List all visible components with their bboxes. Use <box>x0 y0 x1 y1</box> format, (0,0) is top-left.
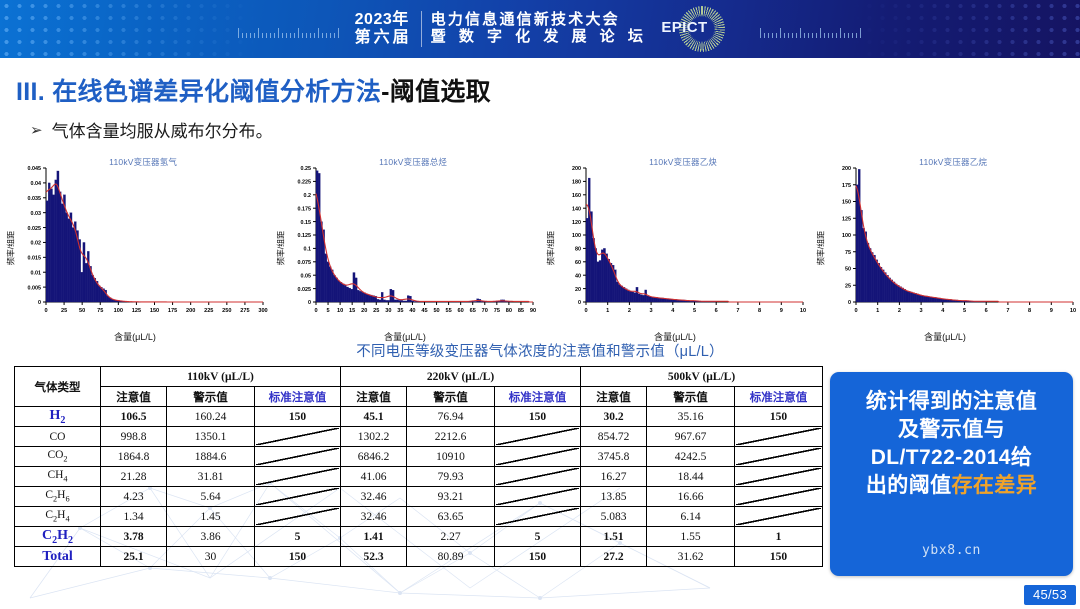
svg-text:75: 75 <box>97 308 103 314</box>
cell-value: 27.2 <box>581 547 647 567</box>
svg-text:7: 7 <box>736 308 739 314</box>
svg-text:0.005: 0.005 <box>28 285 42 291</box>
svg-text:10: 10 <box>800 308 806 314</box>
table-row: CO998.81350.11302.22212.6854.72967.67 <box>15 427 823 447</box>
svg-text:200: 200 <box>842 166 851 172</box>
cell-not-applicable <box>495 427 581 447</box>
cell-value: 6846.2 <box>341 447 407 467</box>
cell-value: 150 <box>735 547 823 567</box>
cell-value: 4242.5 <box>647 447 735 467</box>
cell-value: 31.62 <box>647 547 735 567</box>
table-body: H2106.5160.2415045.176.9415030.235.16150… <box>15 407 823 567</box>
callout-line-3: DL/T722-2014给 <box>871 444 1033 472</box>
cell-value: 1 <box>735 527 823 547</box>
page-title: III. 在线色谱差异化阈值分析方法-阈值选取 <box>16 72 1080 108</box>
chart-ethane-ylabel: 频率/组距 <box>816 230 827 264</box>
svg-text:10: 10 <box>337 308 343 314</box>
cell-value: 1.34 <box>101 507 167 527</box>
svg-text:90: 90 <box>530 308 536 314</box>
svg-text:225: 225 <box>204 308 213 314</box>
cell-value: 5 <box>255 527 341 547</box>
site-watermark: ybx8.cn <box>830 543 1073 558</box>
cell-value: 31.81 <box>167 467 255 487</box>
cell-value: 150 <box>255 547 341 567</box>
cell-value: 63.65 <box>407 507 495 527</box>
chart-ethane-canvas: 0255075100125150175200012345678910 <box>810 150 1080 345</box>
chart-row: 00.0050.010.0150.020.0250.030.0350.040.0… <box>0 150 1080 345</box>
cell-gas-name: CO <box>15 427 101 447</box>
svg-text:6: 6 <box>715 308 718 314</box>
gas-threshold-table: 气体类型 110kV (μL/L) 220kV (μL/L) 500kV (μL… <box>14 366 823 567</box>
chart-acetylene-ylabel: 频率/组距 <box>546 230 557 264</box>
chart-hydrogen-ylabel: 频率/组距 <box>6 230 17 264</box>
page-title-main: III. 在线色谱差异化阈值分析方法 <box>16 78 381 106</box>
svg-text:3: 3 <box>920 308 923 314</box>
svg-text:0.225: 0.225 <box>298 180 312 186</box>
cell-not-applicable <box>735 447 823 467</box>
cell-value: 35.16 <box>647 407 735 427</box>
svg-text:100: 100 <box>572 233 581 239</box>
svg-text:4: 4 <box>671 308 675 314</box>
page-number-badge: 45/53 <box>1024 585 1076 605</box>
svg-text:0.1: 0.1 <box>304 247 312 253</box>
chart-acetylene-title: 110kV变压器乙炔 <box>649 156 717 168</box>
banner-title-line1: 电力信息通信新技术大会 <box>431 12 648 29</box>
svg-text:100: 100 <box>114 308 123 314</box>
cell-value: 3.78 <box>101 527 167 547</box>
svg-text:0.01: 0.01 <box>31 270 42 276</box>
svg-text:0.125: 0.125 <box>298 233 312 239</box>
svg-text:0: 0 <box>854 308 857 314</box>
svg-text:0: 0 <box>314 308 317 314</box>
svg-text:85: 85 <box>518 308 524 314</box>
bullet-item: ➢ 气体含量均服从威布尔分布。 <box>30 117 1080 142</box>
cell-value: 998.8 <box>101 427 167 447</box>
table-row: C2H41.341.4532.4663.655.0836.14 <box>15 507 823 527</box>
gas-threshold-table-wrapper: 气体类型 110kV (μL/L) 220kV (μL/L) 500kV (μL… <box>14 366 822 567</box>
cell-value: 16.27 <box>581 467 647 487</box>
svg-text:275: 275 <box>240 308 249 314</box>
cell-value: 150 <box>495 407 581 427</box>
chart-hydrogen-canvas: 00.0050.010.0150.020.0250.030.0350.040.0… <box>0 150 270 345</box>
banner-edition: 第六届 <box>355 29 412 47</box>
svg-text:0.075: 0.075 <box>298 260 312 266</box>
svg-text:0: 0 <box>578 300 581 306</box>
cell-value: 32.46 <box>341 487 407 507</box>
cell-value: 18.44 <box>647 467 735 487</box>
cell-not-applicable <box>255 507 341 527</box>
svg-text:0: 0 <box>308 300 311 306</box>
svg-text:120: 120 <box>572 220 581 226</box>
svg-text:200: 200 <box>572 166 581 172</box>
callout-line-4: 出的阈值存在差异 <box>866 472 1037 500</box>
svg-text:180: 180 <box>572 180 581 186</box>
svg-text:2: 2 <box>628 308 631 314</box>
svg-text:5: 5 <box>963 308 966 314</box>
svg-text:8: 8 <box>1028 308 1031 314</box>
cell-value: 13.85 <box>581 487 647 507</box>
header-warning-500: 警示值 <box>647 387 735 407</box>
cell-value: 2.27 <box>407 527 495 547</box>
callout-line-2: 及警示值与 <box>898 416 1005 444</box>
cell-value: 1.55 <box>647 527 735 547</box>
header-attention-220: 注意值 <box>341 387 407 407</box>
cell-value: 3.86 <box>167 527 255 547</box>
svg-text:75: 75 <box>494 308 500 314</box>
cell-not-applicable <box>495 467 581 487</box>
cell-value: 93.21 <box>407 487 495 507</box>
svg-text:0: 0 <box>38 300 41 306</box>
svg-text:7: 7 <box>1006 308 1009 314</box>
svg-text:5: 5 <box>693 308 696 314</box>
svg-text:150: 150 <box>150 308 159 314</box>
header-standard-500: 标准注意值 <box>735 387 823 407</box>
svg-text:0: 0 <box>848 300 851 306</box>
table-row: C2H64.235.6432.4693.2113.8516.66 <box>15 487 823 507</box>
svg-text:250: 250 <box>222 308 231 314</box>
svg-text:0.05: 0.05 <box>301 273 312 279</box>
svg-text:0.025: 0.025 <box>298 287 312 293</box>
cell-value: 21.28 <box>101 467 167 487</box>
header-standard-220: 标准注意值 <box>495 387 581 407</box>
svg-text:175: 175 <box>842 183 851 189</box>
svg-text:1: 1 <box>606 308 609 314</box>
cell-value: 10910 <box>407 447 495 467</box>
header-standard-110: 标准注意值 <box>255 387 341 407</box>
svg-text:200: 200 <box>186 308 195 314</box>
svg-text:0: 0 <box>44 308 47 314</box>
cell-value: 5 <box>495 527 581 547</box>
svg-text:140: 140 <box>572 206 581 212</box>
banner-edition-block: 2023年 第六届 <box>355 11 421 47</box>
cell-not-applicable <box>495 487 581 507</box>
svg-text:300: 300 <box>258 308 267 314</box>
svg-text:160: 160 <box>572 193 581 199</box>
svg-text:150: 150 <box>842 200 851 206</box>
svg-text:65: 65 <box>470 308 476 314</box>
svg-text:0: 0 <box>584 308 587 314</box>
svg-text:60: 60 <box>458 308 464 314</box>
svg-text:40: 40 <box>575 273 581 279</box>
cell-not-applicable <box>255 427 341 447</box>
cell-value: 52.3 <box>341 547 407 567</box>
cell-value: 16.66 <box>647 487 735 507</box>
chart-total-hydrocarbon-title: 110kV变压器总烃 <box>379 156 447 168</box>
svg-text:25: 25 <box>373 308 379 314</box>
svg-text:80: 80 <box>506 308 512 314</box>
table-head: 气体类型 110kV (μL/L) 220kV (μL/L) 500kV (μL… <box>15 367 823 407</box>
cell-value: 150 <box>495 547 581 567</box>
table-row: CH421.2831.8141.0679.9316.2718.44 <box>15 467 823 487</box>
header-warning-110: 警示值 <box>167 387 255 407</box>
svg-text:0.035: 0.035 <box>28 196 42 202</box>
page-title-suffix: -阈值选取 <box>381 78 491 106</box>
svg-text:125: 125 <box>842 216 851 222</box>
chart-ethane: 0255075100125150175200012345678910 110kV… <box>810 150 1080 345</box>
svg-text:10: 10 <box>1070 308 1076 314</box>
chart-acetylene-canvas: 020406080100120140160180200012345678910 <box>540 150 810 345</box>
cell-gas-name: H2 <box>15 407 101 427</box>
svg-text:5: 5 <box>326 308 329 314</box>
cell-not-applicable <box>495 447 581 467</box>
chart-total-hydrocarbon-canvas: 00.0250.050.0750.10.1250.150.1750.20.225… <box>270 150 540 345</box>
cell-value: 1884.6 <box>167 447 255 467</box>
svg-text:75: 75 <box>845 250 851 256</box>
header-warning-220: 警示值 <box>407 387 495 407</box>
callout-line-1: 统计得到的注意值 <box>866 388 1037 416</box>
header-attention-110: 注意值 <box>101 387 167 407</box>
svg-text:15: 15 <box>349 308 355 314</box>
banner-year: 2023年 <box>355 11 412 29</box>
table-sub-header-row: 注意值 警示值 标准注意值 注意值 警示值 标准注意值 注意值 警示值 标准注意… <box>15 387 823 407</box>
cell-value: 30.2 <box>581 407 647 427</box>
chart-hydrogen: 00.0050.010.0150.020.0250.030.0350.040.0… <box>0 150 270 345</box>
svg-text:4: 4 <box>941 308 945 314</box>
cell-value: 1350.1 <box>167 427 255 447</box>
cell-not-applicable <box>495 507 581 527</box>
svg-text:0.03: 0.03 <box>31 211 42 217</box>
cell-value: 6.14 <box>647 507 735 527</box>
cell-gas-name: CO2 <box>15 447 101 467</box>
banner-title-block: 电力信息通信新技术大会 暨 数 字 化 发 展 论 坛 <box>431 12 648 46</box>
cell-value: 150 <box>255 407 341 427</box>
svg-text:50: 50 <box>79 308 85 314</box>
chart-ethane-title: 110kV变压器乙烷 <box>919 156 987 168</box>
cell-value: 160.24 <box>167 407 255 427</box>
banner-title-line2: 暨 数 字 化 发 展 论 坛 <box>431 29 648 46</box>
cell-value: 5.083 <box>581 507 647 527</box>
svg-text:70: 70 <box>482 308 488 314</box>
cell-value: 80.89 <box>407 547 495 567</box>
chart-total-hydrocarbon: 00.0250.050.0750.10.1250.150.1750.20.225… <box>270 150 540 345</box>
svg-text:25: 25 <box>845 283 851 289</box>
cell-gas-name: Total <box>15 547 101 567</box>
svg-text:1: 1 <box>876 308 879 314</box>
cell-gas-name: C2H6 <box>15 487 101 507</box>
svg-text:55: 55 <box>445 308 451 314</box>
table-caption: 不同电压等级变压器气体浓度的注意值和警示值（μL/L） <box>0 340 1080 361</box>
svg-text:0.02: 0.02 <box>31 241 42 247</box>
cell-not-applicable <box>735 467 823 487</box>
svg-text:25: 25 <box>61 308 67 314</box>
svg-text:30: 30 <box>385 308 391 314</box>
svg-text:6: 6 <box>985 308 988 314</box>
header-group-110kv: 110kV (μL/L) <box>101 367 341 387</box>
bullet-text: 气体含量均服从威布尔分布。 <box>52 117 273 142</box>
svg-text:0.025: 0.025 <box>28 226 42 232</box>
svg-text:9: 9 <box>1050 308 1053 314</box>
cell-value: 1.51 <box>581 527 647 547</box>
header-group-500kv: 500kV (μL/L) <box>581 367 823 387</box>
conclusion-callout: 统计得到的注意值 及警示值与 DL/T722-2014给 出的阈值存在差异 yb… <box>830 372 1073 576</box>
header-attention-500: 注意值 <box>581 387 647 407</box>
svg-text:40: 40 <box>409 308 415 314</box>
chart-hydrogen-title: 110kV变压器氢气 <box>109 156 177 168</box>
cell-gas-name: C2H4 <box>15 507 101 527</box>
svg-text:0.015: 0.015 <box>28 256 42 262</box>
svg-text:3: 3 <box>650 308 653 314</box>
cell-value: 76.94 <box>407 407 495 427</box>
cell-value: 854.72 <box>581 427 647 447</box>
table-group-header-row: 气体类型 110kV (μL/L) 220kV (μL/L) 500kV (μL… <box>15 367 823 387</box>
arrow-bullet-icon: ➢ <box>30 121 43 139</box>
banner-divider <box>421 11 422 47</box>
svg-text:0.04: 0.04 <box>31 181 42 187</box>
table-row: CO21864.81884.66846.2109103745.84242.5 <box>15 447 823 467</box>
epict-logo-text: EPICT <box>661 19 707 36</box>
cell-value: 30 <box>167 547 255 567</box>
cell-not-applicable <box>735 507 823 527</box>
cell-value: 1864.8 <box>101 447 167 467</box>
cell-gas-name: C2H2 <box>15 527 101 547</box>
svg-text:50: 50 <box>433 308 439 314</box>
banner-content: 2023年 第六届 电力信息通信新技术大会 暨 数 字 化 发 展 论 坛 EP… <box>0 0 1080 58</box>
cell-not-applicable <box>735 487 823 507</box>
callout-line-4-plain: 出的阈值 <box>866 474 952 497</box>
cell-value: 967.67 <box>647 427 735 447</box>
svg-text:2: 2 <box>898 308 901 314</box>
cell-gas-name: CH4 <box>15 467 101 487</box>
svg-text:45: 45 <box>421 308 427 314</box>
svg-text:20: 20 <box>575 287 581 293</box>
chart-total-hydrocarbon-ylabel: 频率/组距 <box>276 230 287 264</box>
svg-text:9: 9 <box>780 308 783 314</box>
svg-text:0.2: 0.2 <box>304 193 312 199</box>
svg-text:175: 175 <box>168 308 177 314</box>
header-gas-type: 气体类型 <box>15 367 101 407</box>
cell-value: 3745.8 <box>581 447 647 467</box>
table-row: H2106.5160.2415045.176.9415030.235.16150 <box>15 407 823 427</box>
svg-text:0.15: 0.15 <box>301 220 312 226</box>
header-group-220kv: 220kV (μL/L) <box>341 367 581 387</box>
cell-value: 79.93 <box>407 467 495 487</box>
svg-text:0.175: 0.175 <box>298 206 312 212</box>
table-row: Total25.13015052.380.8915027.231.62150 <box>15 547 823 567</box>
epict-logo: EPICT <box>661 6 725 52</box>
cell-not-applicable <box>255 447 341 467</box>
svg-text:125: 125 <box>132 308 141 314</box>
cell-value: 5.64 <box>167 487 255 507</box>
svg-text:100: 100 <box>842 233 851 239</box>
table-row: C2H23.783.8651.412.2751.511.551 <box>15 527 823 547</box>
cell-not-applicable <box>255 467 341 487</box>
cell-value: 41.06 <box>341 467 407 487</box>
svg-text:8: 8 <box>758 308 761 314</box>
chart-acetylene: 020406080100120140160180200012345678910 … <box>540 150 810 345</box>
svg-text:0.25: 0.25 <box>301 166 312 172</box>
cell-value: 25.1 <box>101 547 167 567</box>
svg-text:80: 80 <box>575 247 581 253</box>
cell-value: 150 <box>735 407 823 427</box>
conference-banner: 2023年 第六届 电力信息通信新技术大会 暨 数 字 化 发 展 论 坛 EP… <box>0 0 1080 58</box>
cell-value: 1.41 <box>341 527 407 547</box>
callout-line-4-accent: 存在差异 <box>952 474 1038 497</box>
cell-value: 2212.6 <box>407 427 495 447</box>
svg-text:0.045: 0.045 <box>28 166 42 172</box>
cell-value: 1302.2 <box>341 427 407 447</box>
cell-value: 32.46 <box>341 507 407 527</box>
cell-value: 1.45 <box>167 507 255 527</box>
svg-text:20: 20 <box>361 308 367 314</box>
cell-value: 4.23 <box>101 487 167 507</box>
svg-text:60: 60 <box>575 260 581 266</box>
svg-text:35: 35 <box>397 308 403 314</box>
svg-text:50: 50 <box>845 267 851 273</box>
cell-not-applicable <box>735 427 823 447</box>
cell-not-applicable <box>255 487 341 507</box>
cell-value: 106.5 <box>101 407 167 427</box>
cell-value: 45.1 <box>341 407 407 427</box>
